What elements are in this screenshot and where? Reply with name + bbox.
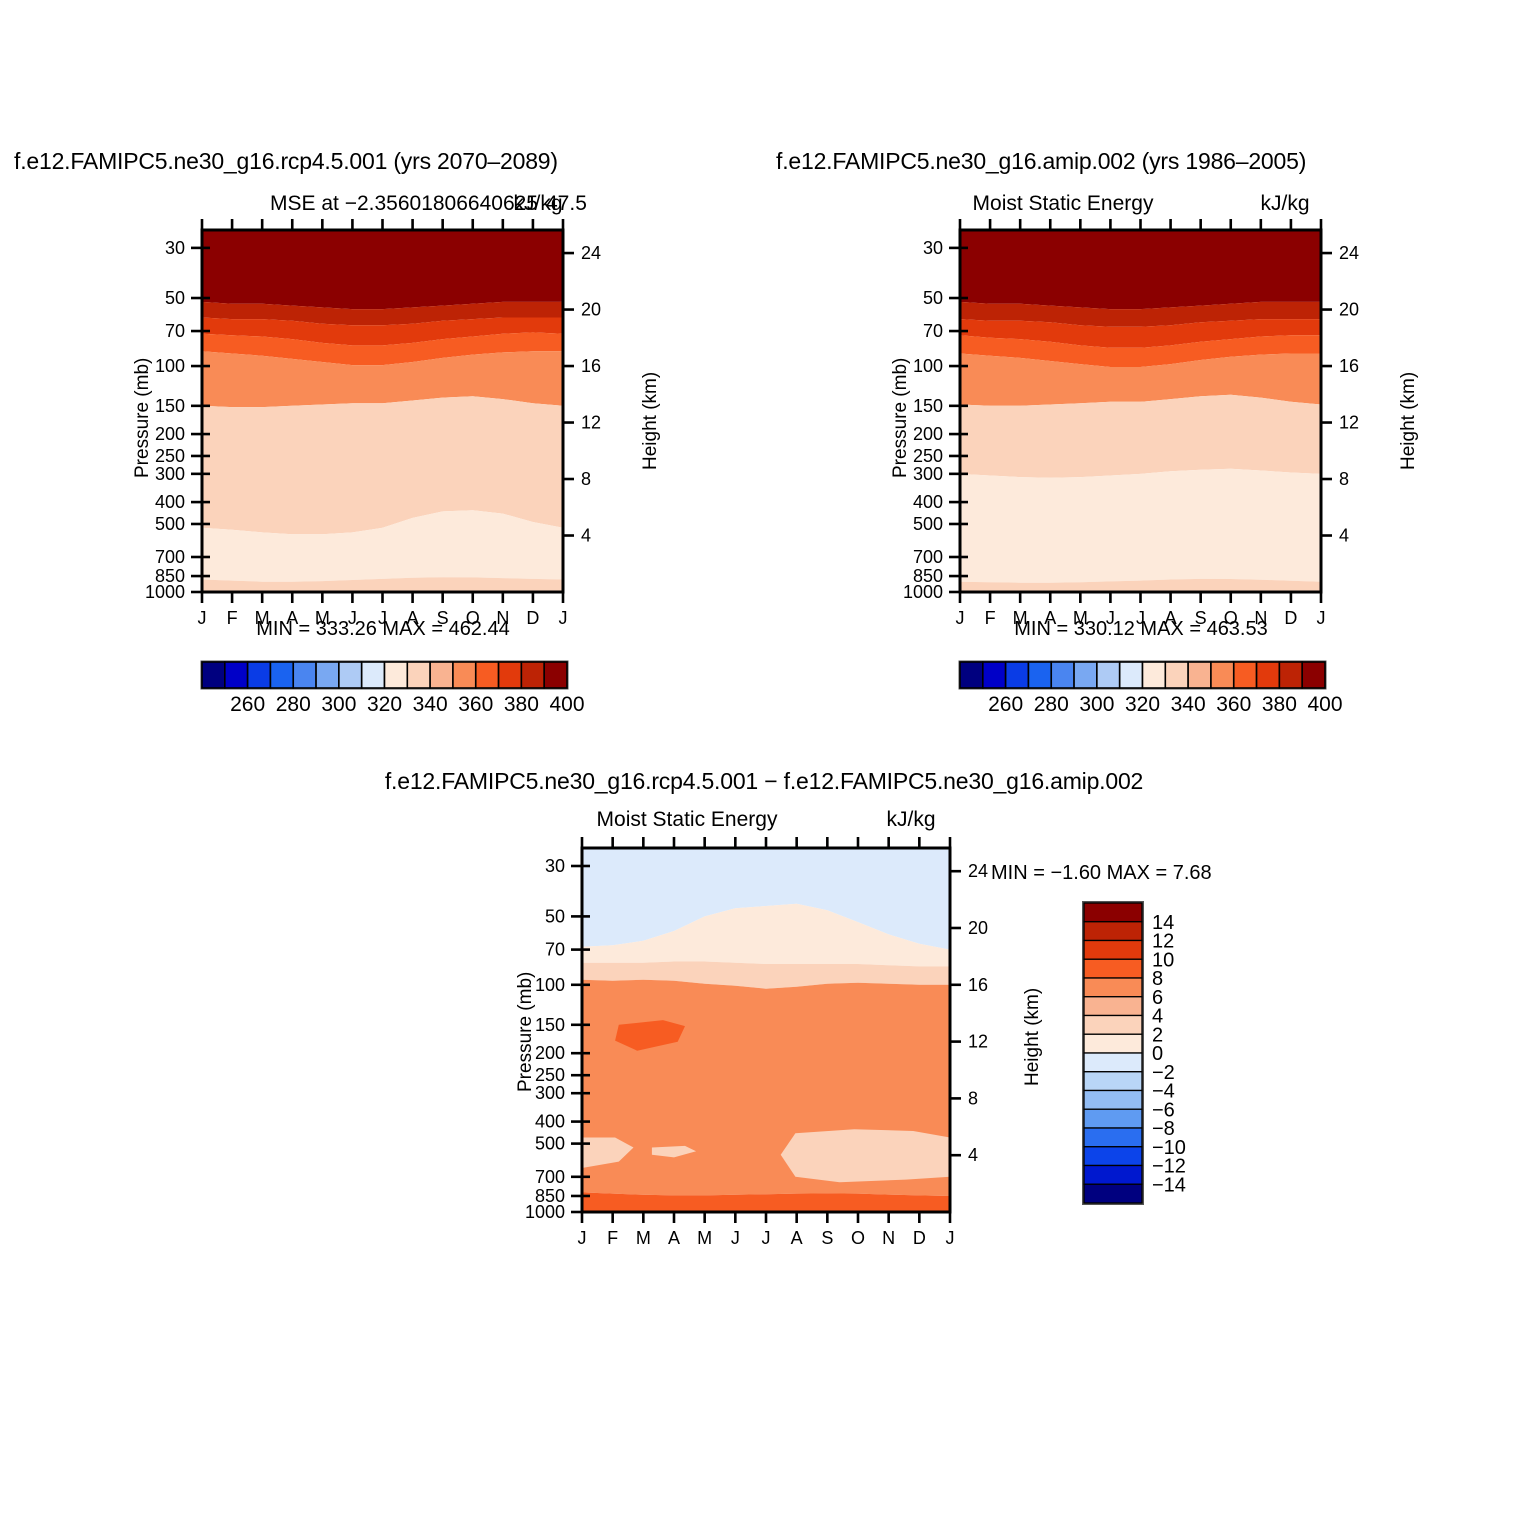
height-tick-label: 12 <box>1339 413 1359 433</box>
height-axis: 2420161284 <box>950 861 988 1165</box>
top-right-plot: 3050701001502002503004005007008501000242… <box>758 0 1524 740</box>
colorbar-tick-label: 360 <box>458 693 493 716</box>
pressure-tick-label: 300 <box>913 464 943 484</box>
contour-bands <box>202 220 563 592</box>
pressure-tick-label: 30 <box>923 238 943 258</box>
month-tick-label: M <box>697 1228 712 1248</box>
month-tick-label: S <box>1195 608 1207 628</box>
colorbar-swatch[interactable] <box>1084 1072 1142 1091</box>
colorbar-tick-label: 320 <box>1125 693 1160 716</box>
colorbar-swatch[interactable] <box>1211 662 1234 688</box>
contour-bands <box>582 838 950 1212</box>
contour-band <box>960 220 1321 309</box>
colorbar-swatch[interactable] <box>476 662 499 688</box>
pressure-tick-label: 150 <box>913 396 943 416</box>
month-tick-label: J <box>946 1228 955 1248</box>
month-tick-label: N <box>496 608 509 628</box>
top-left-plot: 3050701001502002503004005007008501000242… <box>0 0 760 740</box>
month-tick-label: D <box>913 1228 926 1248</box>
height-tick-label: 4 <box>581 526 591 546</box>
pressure-tick-label: 100 <box>155 356 185 376</box>
colorbar-tick-label: 340 <box>413 693 448 716</box>
height-tick-label: 8 <box>968 1088 978 1108</box>
height-tick-label: 16 <box>581 356 601 376</box>
contour-band <box>960 469 1321 583</box>
absolute-colorbar-left[interactable]: 260280300320340360380400 <box>201 661 585 717</box>
month-tick-label: N <box>882 1228 895 1248</box>
colorbar-swatch[interactable] <box>385 662 408 688</box>
colorbar-tick-label: 320 <box>367 693 402 716</box>
colorbar-swatch[interactable] <box>1165 662 1188 688</box>
pressure-tick-label: 150 <box>535 1015 565 1035</box>
month-tick-label: J <box>559 608 568 628</box>
colorbar-swatch[interactable] <box>202 662 225 688</box>
colorbar-swatch[interactable] <box>1084 978 1142 997</box>
pressure-tick-label: 70 <box>545 940 565 960</box>
month-tick-label: A <box>1165 608 1177 628</box>
colorbar-swatch[interactable] <box>1084 1166 1142 1185</box>
colorbar-swatch[interactable] <box>225 662 248 688</box>
month-tick-label: J <box>1136 608 1145 628</box>
pressure-tick-label: 500 <box>535 1134 565 1154</box>
month-tick-label: J <box>1317 608 1326 628</box>
height-tick-label: 24 <box>581 243 601 263</box>
colorbar-swatch[interactable] <box>521 662 544 688</box>
colorbar-swatch[interactable] <box>983 662 1006 688</box>
contour-bands <box>960 220 1321 592</box>
pressure-tick-label: 300 <box>155 464 185 484</box>
colorbar-swatch[interactable] <box>1084 1091 1142 1110</box>
month-tick-label: F <box>607 1228 618 1248</box>
month-tick-label: J <box>956 608 965 628</box>
colorbar-tick-label: 340 <box>1171 693 1206 716</box>
height-tick-label: 4 <box>1339 526 1349 546</box>
colorbar-swatch[interactable] <box>248 662 271 688</box>
pressure-tick-label: 700 <box>913 547 943 567</box>
pressure-tick-label: 1000 <box>145 582 185 602</box>
pressure-tick-label: 200 <box>913 424 943 444</box>
month-tick-label: A <box>668 1228 680 1248</box>
difference-colorbar-swatches[interactable]: 14121086420−2−4−6−8−10−12−14 <box>1082 901 1186 1205</box>
month-tick-label: F <box>227 608 238 628</box>
month-tick-label: D <box>526 608 539 628</box>
pressure-tick-label: 50 <box>545 906 565 926</box>
colorbar-tick-label: 260 <box>230 693 265 716</box>
pressure-tick-label: 500 <box>155 514 185 534</box>
height-tick-label: 20 <box>968 918 988 938</box>
colorbar-tick-label: 380 <box>504 693 539 716</box>
month-tick-label: J <box>731 1228 740 1248</box>
month-tick-label: A <box>1044 608 1056 628</box>
pressure-tick-label: 70 <box>165 321 185 341</box>
colorbar-swatch[interactable] <box>1006 662 1029 688</box>
pressure-tick-label: 700 <box>155 547 185 567</box>
colorbar-tick-label: 400 <box>1307 693 1342 716</box>
colorbar-swatch[interactable] <box>960 662 983 688</box>
colorbar-tick-label: 400 <box>549 693 584 716</box>
colorbar-swatch[interactable] <box>1084 1016 1142 1035</box>
colorbar-swatch[interactable] <box>1028 662 1051 688</box>
pressure-tick-label: 50 <box>923 288 943 308</box>
height-tick-label: 16 <box>1339 356 1359 376</box>
colorbar-swatch[interactable] <box>1051 662 1074 688</box>
colorbar-swatch[interactable] <box>1120 662 1143 688</box>
month-tick-label: M <box>1073 608 1088 628</box>
colorbar-swatch[interactable] <box>1084 1109 1142 1128</box>
pressure-tick-label: 50 <box>165 288 185 308</box>
pressure-tick-label: 200 <box>535 1043 565 1063</box>
contour-band <box>582 1192 950 1212</box>
colorbar-swatch[interactable] <box>1084 997 1142 1016</box>
pressure-tick-label: 200 <box>155 424 185 444</box>
height-tick-label: 24 <box>1339 243 1359 263</box>
height-tick-label: 4 <box>968 1145 978 1165</box>
colorbar-swatch[interactable] <box>1143 662 1166 688</box>
pressure-tick-label: 100 <box>913 356 943 376</box>
colorbar-swatch[interactable] <box>453 662 476 688</box>
height-tick-label: 8 <box>1339 469 1349 489</box>
contour-band <box>960 395 1321 478</box>
pressure-tick-label: 30 <box>165 238 185 258</box>
colorbar-swatch[interactable] <box>1084 1147 1142 1166</box>
colorbar-tick-label: 300 <box>321 693 356 716</box>
pressure-tick-label: 300 <box>535 1083 565 1103</box>
pressure-tick-label: 1000 <box>903 582 943 602</box>
pressure-axis: 3050701001502002503004005007008501000 <box>525 856 590 1222</box>
pressure-tick-label: 500 <box>913 514 943 534</box>
month-tick-label: S <box>821 1228 833 1248</box>
height-tick-label: 20 <box>1339 300 1359 320</box>
month-tick-label: S <box>437 608 449 628</box>
height-axis: 2420161284 <box>1321 243 1359 545</box>
colorbar-swatch[interactable] <box>1188 662 1211 688</box>
month-tick-label: M <box>1013 608 1028 628</box>
height-axis: 2420161284 <box>563 243 601 545</box>
colorbar-swatch[interactable] <box>1084 1184 1142 1203</box>
colorbar-tick-label: 260 <box>988 693 1023 716</box>
month-tick-label: A <box>791 1228 803 1248</box>
colorbar-swatch[interactable] <box>293 662 316 688</box>
pressure-tick-label: 400 <box>535 1112 565 1132</box>
colorbar-swatch[interactable] <box>1084 922 1142 941</box>
month-tick-label: F <box>985 608 996 628</box>
month-tick-label: O <box>466 608 480 628</box>
month-tick-label: J <box>1106 608 1115 628</box>
colorbar-swatch[interactable] <box>430 662 453 688</box>
month-tick-label: J <box>378 608 387 628</box>
colorbar-swatch[interactable] <box>1084 941 1142 960</box>
colorbar-swatch[interactable] <box>1074 662 1097 688</box>
colorbar-swatch[interactable] <box>1302 662 1325 688</box>
month-tick-label: J <box>348 608 357 628</box>
pressure-tick-label: 400 <box>913 492 943 512</box>
month-tick-label: J <box>762 1228 771 1248</box>
colorbar-swatch[interactable] <box>407 662 430 688</box>
colorbar-swatch[interactable] <box>362 662 385 688</box>
contour-band <box>202 396 563 534</box>
colorbar-tick-label: −14 <box>1152 1174 1186 1196</box>
month-tick-label: A <box>286 608 298 628</box>
colorbar-swatch[interactable] <box>1084 903 1142 922</box>
colorbar-tick-label: 280 <box>1034 693 1069 716</box>
pressure-tick-label: 700 <box>535 1167 565 1187</box>
month-tick-label: M <box>255 608 270 628</box>
pressure-tick-label: 70 <box>923 321 943 341</box>
month-tick-label: O <box>1224 608 1238 628</box>
colorbar-tick-label: 280 <box>276 693 311 716</box>
month-tick-label: J <box>578 1228 587 1248</box>
contour-blob <box>781 1129 950 1182</box>
colorbar-swatch[interactable] <box>499 662 522 688</box>
height-tick-label: 12 <box>968 1032 988 1052</box>
colorbar-swatch[interactable] <box>1084 1128 1142 1147</box>
pressure-tick-label: 1000 <box>525 1202 565 1222</box>
colorbar-swatch[interactable] <box>1084 1034 1142 1053</box>
pressure-tick-label: 400 <box>155 492 185 512</box>
difference-colorbar[interactable]: 14121086420−2−4−6−8−10−12−14 <box>1070 895 1230 1225</box>
month-tick-label: J <box>198 608 207 628</box>
month-tick-label: A <box>407 608 419 628</box>
colorbar-swatch[interactable] <box>544 662 567 688</box>
colorbar-swatch[interactable] <box>339 662 362 688</box>
colorbar-swatch[interactable] <box>1279 662 1302 688</box>
height-tick-label: 20 <box>581 300 601 320</box>
height-tick-label: 8 <box>581 469 591 489</box>
height-tick-label: 12 <box>581 413 601 433</box>
height-tick-label: 24 <box>968 861 988 881</box>
colorbar-swatch[interactable] <box>1257 662 1280 688</box>
colorbar-swatch[interactable] <box>316 662 339 688</box>
absolute-colorbar-right[interactable]: 260280300320340360380400 <box>959 661 1343 717</box>
colorbar-tick-label: 300 <box>1079 693 1114 716</box>
colorbar-swatch[interactable] <box>1084 1053 1142 1072</box>
month-tick-label: N <box>1254 608 1267 628</box>
month-tick-label: D <box>1284 608 1297 628</box>
contour-band <box>202 220 563 309</box>
pressure-tick-label: 150 <box>155 396 185 416</box>
colorbar-swatch[interactable] <box>1084 959 1142 978</box>
colorbar-swatch[interactable] <box>270 662 293 688</box>
colorbar-swatch[interactable] <box>1234 662 1257 688</box>
pressure-tick-label: 100 <box>535 975 565 995</box>
month-tick-label: M <box>636 1228 651 1248</box>
height-tick-label: 16 <box>968 975 988 995</box>
colorbar-tick-label: 360 <box>1216 693 1251 716</box>
month-tick-label: M <box>315 608 330 628</box>
colorbar-swatch[interactable] <box>1097 662 1120 688</box>
pressure-tick-label: 30 <box>545 856 565 876</box>
colorbar-tick-label: 380 <box>1262 693 1297 716</box>
pressure-axis: 3050701001502002503004005007008501000 <box>145 238 210 602</box>
pressure-axis: 3050701001502002503004005007008501000 <box>903 238 968 602</box>
month-tick-label: O <box>851 1228 865 1248</box>
